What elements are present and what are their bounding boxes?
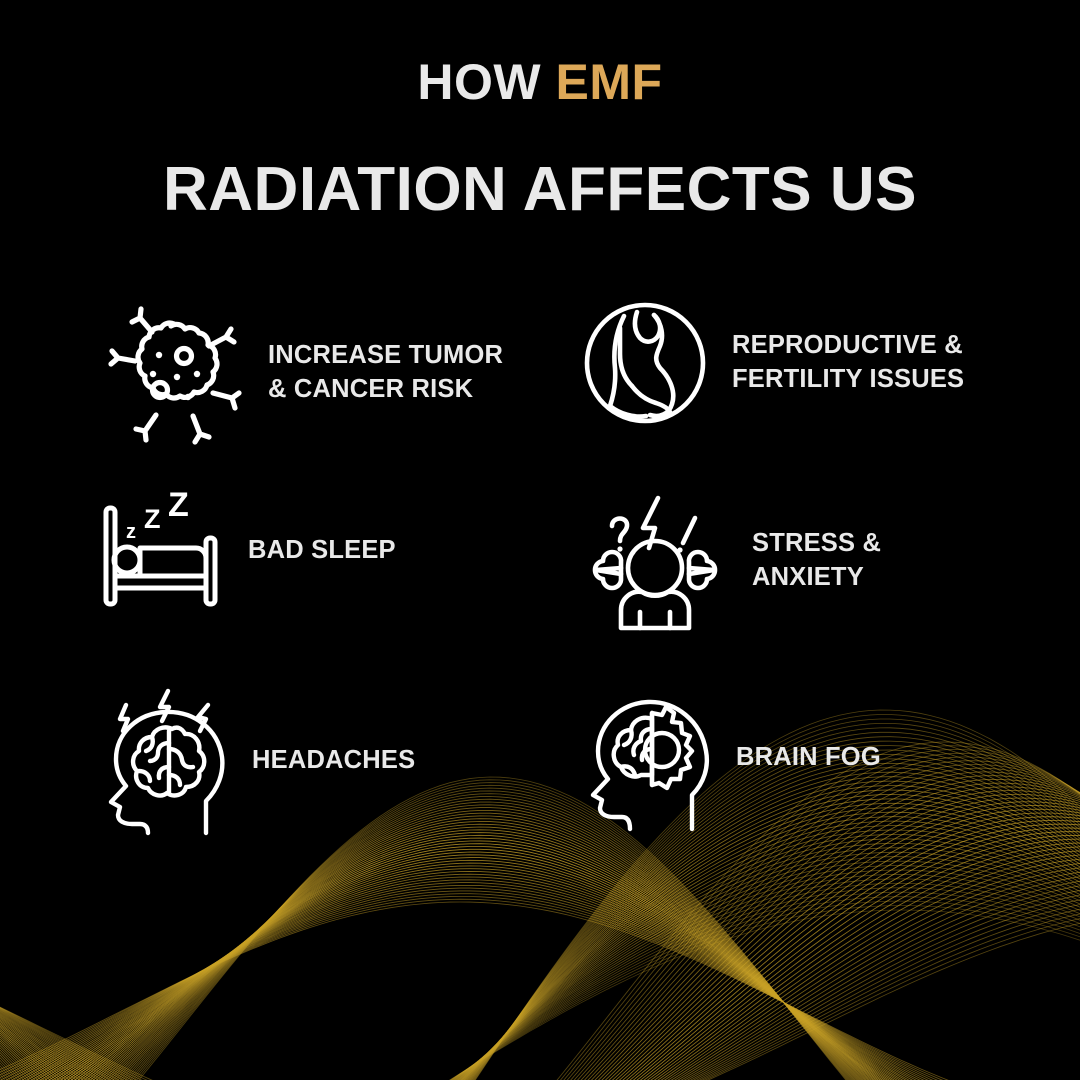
svg-text:Z: Z bbox=[144, 504, 161, 534]
title-emf: EMF bbox=[556, 54, 663, 110]
item-reproductive-fertility: REPRODUCTIVE & FERTILITY ISSUES bbox=[580, 298, 964, 428]
pregnant-woman-icon bbox=[580, 298, 710, 428]
head-brain-gear-icon bbox=[580, 683, 720, 833]
item-label-brain-fog: BRAIN FOG bbox=[736, 741, 881, 775]
item-label-reproductive-fertility: REPRODUCTIVE & FERTILITY ISSUES bbox=[732, 329, 964, 397]
title-line-1: HOW EMF bbox=[0, 56, 1080, 109]
infographic-page: HOW EMF RADIATION AFFECTS US bbox=[0, 0, 1080, 1080]
svg-text:z: z bbox=[126, 521, 136, 543]
svg-text:Z: Z bbox=[168, 486, 189, 524]
item-tumor-cancer-risk: INCREASE TUMOR & CANCER RISK bbox=[96, 298, 503, 448]
item-brain-fog: BRAIN FOG bbox=[580, 683, 881, 833]
cancer-cell-icon bbox=[96, 298, 246, 448]
symptom-grid: INCREASE TUMOR & CANCER RISK bbox=[0, 288, 1080, 888]
title-how: HOW bbox=[417, 54, 541, 110]
head-brain-lightning-icon bbox=[96, 683, 236, 838]
item-label-tumor-cancer-risk: INCREASE TUMOR & CANCER RISK bbox=[268, 339, 503, 407]
item-label-stress-anxiety: STRESS & ANXIETY bbox=[752, 527, 881, 595]
page-title: HOW EMF RADIATION AFFECTS US bbox=[0, 56, 1080, 222]
item-bad-sleep: z Z Z BAD SLEEP bbox=[96, 486, 396, 616]
stressed-person-icon bbox=[580, 486, 730, 636]
title-line-2: RADIATION AFFECTS US bbox=[0, 157, 1080, 222]
item-label-headaches: HEADACHES bbox=[252, 744, 415, 778]
bed-sleep-icon: z Z Z bbox=[96, 486, 226, 616]
item-label-bad-sleep: BAD SLEEP bbox=[248, 534, 396, 568]
item-stress-anxiety: STRESS & ANXIETY bbox=[580, 486, 881, 636]
item-headaches: HEADACHES bbox=[96, 683, 415, 838]
